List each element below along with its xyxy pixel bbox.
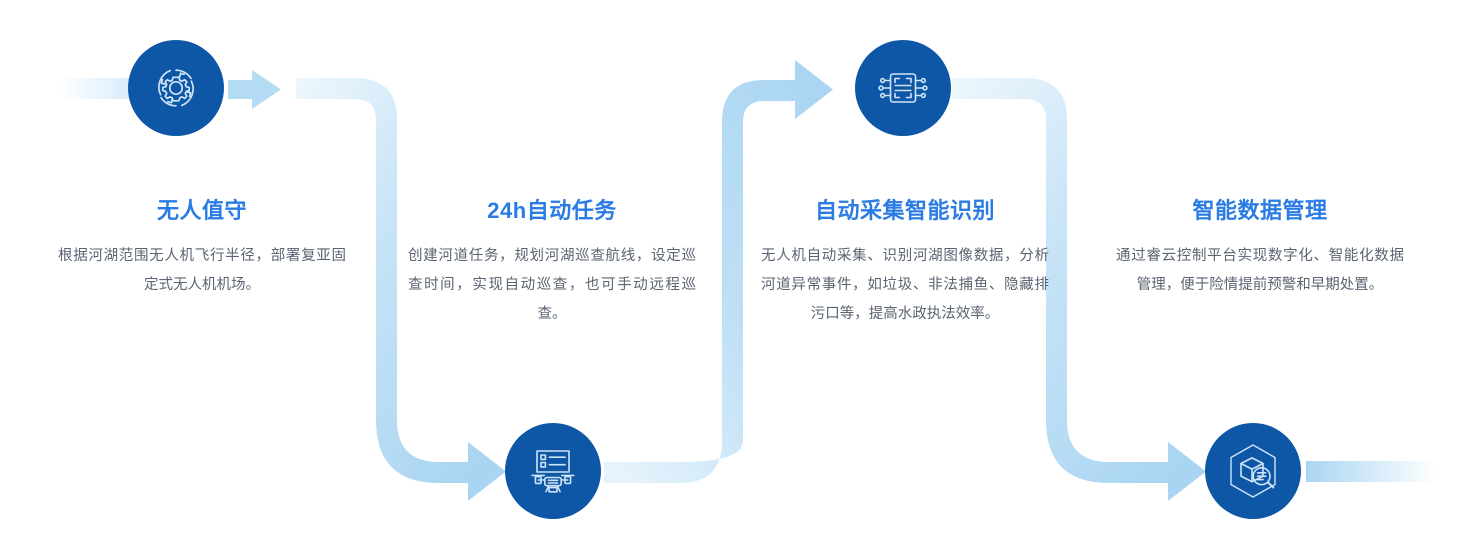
- step-1-title: 无人值守: [52, 198, 352, 224]
- gear-rotation-icon: [146, 58, 206, 118]
- step-3-title: 自动采集智能识别: [755, 198, 1055, 224]
- step-1-icon-node[interactable]: [128, 40, 224, 136]
- step-3-text-block: 自动采集智能识别 无人机自动采集、识别河湖图像数据，分析河道异常事件，如垃圾、非…: [755, 198, 1055, 329]
- step-4-icon-node[interactable]: [1205, 423, 1301, 519]
- step-4-description: 通过睿云控制平台实现数字化、智能化数据管理，便于险情提前预警和早期处置。: [1110, 242, 1410, 300]
- step-2-icon-node[interactable]: [505, 423, 601, 519]
- step-2-text-block: 24h自动任务 创建河道任务，规划河湖巡查航线，设定巡查时间，实现自动巡查，也可…: [402, 198, 702, 329]
- step-1-description: 根据河湖范围无人机飞行半径，部署复亚固定式无人机机场。: [52, 242, 352, 300]
- step-1-text-block: 无人值守 根据河湖范围无人机飞行半径，部署复亚固定式无人机机场。: [52, 198, 352, 300]
- task-list-drone-icon: [524, 442, 582, 500]
- step-4-text-block: 智能数据管理 通过睿云控制平台实现数字化、智能化数据管理，便于险情提前预警和早期…: [1110, 198, 1410, 300]
- step-2-title: 24h自动任务: [402, 198, 702, 224]
- step-2-description: 创建河道任务，规划河湖巡查航线，设定巡查时间，实现自动巡查，也可手动远程巡查。: [402, 242, 702, 329]
- step-3-icon-node[interactable]: [855, 40, 951, 136]
- connector-tail-right: [1306, 461, 1436, 482]
- infographic-canvas: 无人值守 根据河湖范围无人机飞行半径，部署复亚固定式无人机机场。 24h自动任务…: [0, 0, 1484, 533]
- ai-chip-scan-icon: [873, 58, 933, 118]
- hexagon-cube-search-icon: [1222, 440, 1284, 502]
- step-3-description: 无人机自动采集、识别河湖图像数据，分析河道异常事件，如垃圾、非法捕鱼、隐藏排污口…: [755, 242, 1055, 329]
- connector-arrow-step1-out: [228, 70, 281, 109]
- step-4-title: 智能数据管理: [1110, 198, 1410, 224]
